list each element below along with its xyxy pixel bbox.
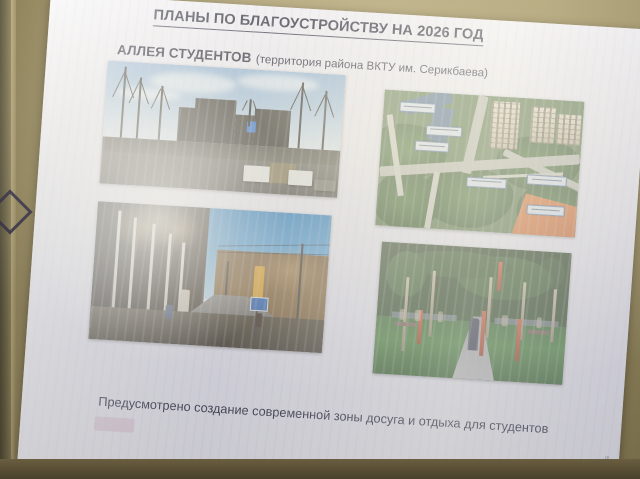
- residential-building: [529, 107, 555, 144]
- building-windows: [489, 102, 520, 150]
- photo-top-left: [99, 61, 345, 198]
- building-windows: [555, 114, 581, 145]
- crowd-figure: [536, 317, 542, 328]
- photo-bottom-left-canvas: [88, 201, 331, 353]
- photo-bottom-right-canvas: [373, 242, 572, 385]
- wall-floor-strip: [0, 459, 640, 479]
- photo-top-right-canvas: [375, 90, 584, 238]
- pedestrian-figure: [165, 305, 173, 319]
- wall-left-jamb-highlight: [11, 0, 16, 479]
- photo-bottom-left: [88, 201, 331, 353]
- pedestrian-figure: [179, 289, 190, 312]
- slide-pink-smudge: [94, 416, 135, 432]
- photo-bottom-right: [373, 242, 572, 385]
- photo-top-right: [375, 90, 584, 238]
- pedestrian-crossing-sign: [250, 296, 269, 311]
- crowd-figure: [414, 310, 420, 321]
- slide-caption: Предусмотрено создание современной зоны …: [35, 391, 611, 440]
- wall-left-jamb: [0, 0, 11, 479]
- crowd-figure: [502, 315, 508, 326]
- photo-top-left-canvas: [99, 61, 345, 198]
- callout-label: [415, 140, 450, 152]
- car-vehicle: [314, 179, 336, 191]
- residential-building: [489, 102, 520, 150]
- truck-vehicle: [288, 170, 313, 186]
- truck-vehicle: [243, 165, 270, 183]
- presentation-photo-scene: ПЛАНЫ ПО БЛАГОУСТРОЙСТВУ НА 2026 ГОД АЛЛ…: [0, 0, 640, 479]
- callout-label: [399, 101, 436, 113]
- pedestrian-figure: [256, 313, 263, 327]
- callout-label: [426, 125, 463, 137]
- residential-building: [555, 114, 581, 145]
- building-windows: [529, 107, 555, 144]
- presentation-slide: ПЛАНЫ ПО БЛАГОУСТРОЙСТВУ НА 2026 ГОД АЛЛ…: [17, 0, 640, 479]
